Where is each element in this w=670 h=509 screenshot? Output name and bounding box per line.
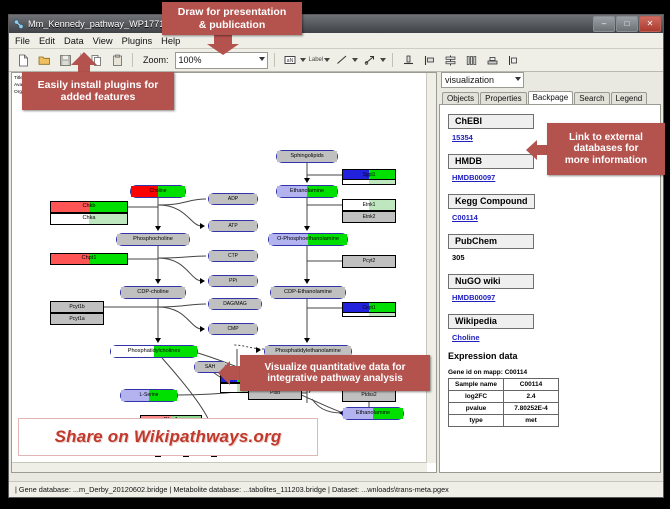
paste-icon[interactable] bbox=[108, 51, 126, 69]
table-cell-value: C00114 bbox=[504, 379, 559, 391]
node-fill-right bbox=[369, 180, 395, 184]
edge-arrowhead bbox=[155, 338, 161, 343]
chebi-header: ChEBI bbox=[448, 114, 534, 129]
node-label: SAH bbox=[205, 365, 215, 370]
window-controls: – □ ✕ bbox=[593, 16, 661, 32]
svg-text:aN: aN bbox=[286, 58, 293, 64]
table-cell-key: type bbox=[449, 415, 504, 427]
node-label: L-Serine bbox=[140, 393, 159, 398]
metabolite-node-choline-top[interactable]: Choline bbox=[130, 185, 186, 198]
align-middle-icon[interactable] bbox=[441, 51, 459, 69]
callout-draw-text: Draw for presentation & publication bbox=[178, 6, 287, 30]
edge-arrowhead bbox=[200, 326, 205, 332]
metabolite-node-phosphatidylcholines[interactable]: Phosphatidylcholines bbox=[110, 345, 198, 358]
node-fill-right bbox=[369, 313, 395, 316]
edge-arrowhead bbox=[256, 347, 261, 353]
chevron-down-icon bbox=[352, 58, 358, 62]
chevron-down-icon bbox=[515, 77, 521, 81]
interaction-tool[interactable] bbox=[361, 51, 386, 69]
edge-arrowhead bbox=[304, 226, 310, 231]
tab-legend[interactable]: Legend bbox=[611, 92, 648, 104]
canvas-horizontal-scrollbar[interactable] bbox=[12, 462, 427, 472]
pathvisio-icon bbox=[13, 19, 24, 30]
pubchem-value: 305 bbox=[452, 253, 652, 262]
edge-cmp-out bbox=[158, 307, 202, 329]
edge-adp-in bbox=[158, 199, 206, 205]
status-bar: | Gene database: ...m_Derby_20120602.bri… bbox=[9, 481, 663, 497]
node-label: Cept1 bbox=[362, 306, 375, 311]
distribute-icon[interactable] bbox=[462, 51, 480, 69]
gene-node-pcyt1b[interactable]: Pcyt1b bbox=[50, 301, 104, 313]
close-button[interactable]: ✕ bbox=[639, 16, 661, 32]
menu-bar: File Edit Data View Plugins Help bbox=[9, 33, 663, 49]
align-left-icon[interactable] bbox=[420, 51, 438, 69]
node-label: ATP bbox=[228, 224, 237, 229]
node-label: Etnk2 bbox=[363, 215, 376, 220]
tab-objects[interactable]: Objects bbox=[442, 92, 479, 104]
node-label: Pcyt1b bbox=[69, 305, 84, 310]
metabolite-node-adp[interactable]: ADP bbox=[208, 193, 258, 205]
toolbar: Zoom: 100% aN Label bbox=[9, 49, 663, 72]
gene-node-sgpl1b[interactable] bbox=[342, 179, 396, 185]
node-label: ADP bbox=[228, 197, 238, 202]
edge-arrowhead bbox=[200, 223, 205, 229]
visualization-value: visualization bbox=[445, 75, 494, 85]
node-label: Etnk1 bbox=[363, 203, 376, 208]
nugo-wiki-link[interactable]: HMDB00097 bbox=[452, 293, 652, 302]
node-label: Ethanolamine bbox=[356, 411, 390, 417]
table-cell-value: 7.80252E-4 bbox=[504, 403, 559, 415]
data-node-icon: aN bbox=[281, 51, 299, 69]
node-label: CMP bbox=[227, 327, 238, 332]
pubchem-header: PubChem bbox=[448, 234, 534, 249]
table-cell-value: met bbox=[504, 415, 559, 427]
tab-properties[interactable]: Properties bbox=[480, 92, 526, 104]
metabolite-node-o-phosphoethanolamine[interactable]: O-Phosphoethanolamine bbox=[268, 233, 348, 246]
callout-visualize-arrow-icon bbox=[218, 360, 242, 386]
node-label: CDP-Ethanolamine bbox=[284, 290, 332, 296]
edge-ppi-out bbox=[158, 258, 202, 281]
callout-install-plugins: Easily install plugins for added feature… bbox=[22, 72, 174, 110]
label-tool-text: Label bbox=[309, 57, 324, 63]
node-label: O-Phosphoethanolamine bbox=[277, 237, 339, 243]
chevron-down-icon bbox=[300, 58, 306, 62]
gene-node-etnk1[interactable]: Etnk1 bbox=[342, 199, 396, 211]
screenshot-root: Mm_Kennedy_pathway_WP1771_45176.gpml – □… bbox=[0, 0, 670, 509]
edge-arrowhead bbox=[304, 178, 310, 183]
node-label: Pisd bbox=[270, 391, 280, 396]
metabolite-node-cdp-ethanolamine[interactable]: CDP-Ethanolamine bbox=[270, 286, 346, 299]
metabolite-node-ethanolamine-top[interactable]: Ethanolamine bbox=[276, 185, 338, 198]
node-label: Choline bbox=[150, 189, 167, 194]
chevron-down-icon bbox=[324, 58, 330, 62]
node-label: Phosphatidylcholines bbox=[128, 349, 181, 355]
gene-node-chkb[interactable]: Chkb bbox=[50, 201, 128, 213]
gene-node-cept1b[interactable] bbox=[342, 312, 396, 317]
side-panel-tabs: Objects Properties Backpage Search Legen… bbox=[439, 90, 661, 104]
table-cell-value: 2.4 bbox=[504, 391, 559, 403]
edge-arrowhead bbox=[155, 226, 161, 231]
share-text: Share on Wikipathways.org bbox=[55, 427, 282, 447]
edge-pemt-dashed bbox=[234, 345, 264, 349]
label-tool[interactable]: Label bbox=[309, 57, 331, 63]
zoom-value: 100% bbox=[179, 55, 202, 65]
minimize-button[interactable]: – bbox=[593, 16, 615, 32]
node-label: Chka bbox=[82, 216, 95, 222]
toolbar-separator bbox=[274, 53, 275, 67]
align-bottom-icon[interactable] bbox=[399, 51, 417, 69]
edge-ctp-in bbox=[158, 256, 206, 258]
wikipedia-link[interactable]: Choline bbox=[452, 333, 652, 342]
menu-item-view[interactable]: View bbox=[93, 36, 113, 46]
open-folder-icon[interactable] bbox=[35, 51, 53, 69]
callout-draw-arrow-icon bbox=[206, 34, 240, 56]
interaction-icon bbox=[361, 51, 379, 69]
metabolite-node-cdp-choline[interactable]: CDP-choline bbox=[120, 286, 186, 299]
node-label: Phosphocholine bbox=[133, 237, 173, 243]
kegg-compound-header: Kegg Compound bbox=[448, 194, 535, 209]
node-label: Phosphatidylethanolamine bbox=[275, 349, 341, 355]
metabolite-node-l-serine-left[interactable]: L-Serine bbox=[120, 389, 178, 402]
edge-arrowhead bbox=[304, 279, 310, 284]
gene-node-chka[interactable]: Chka bbox=[50, 213, 128, 225]
zoom-label: Zoom: bbox=[143, 55, 169, 65]
maximize-button[interactable]: □ bbox=[616, 16, 638, 32]
edge-arrowhead bbox=[304, 338, 310, 343]
table-row: typemet bbox=[449, 415, 559, 427]
chevron-down-icon bbox=[380, 58, 386, 62]
node-label: Ptdss2 bbox=[361, 393, 376, 398]
pathway-canvas[interactable]: Title: Availab Organis SphingolipidsEtha… bbox=[11, 72, 437, 473]
wikipedia-header: Wikipedia bbox=[448, 314, 534, 329]
metabolite-node-ethanolamine-bottom[interactable]: Ethanolamine bbox=[342, 407, 404, 420]
edge-arrowhead bbox=[155, 279, 161, 284]
menu-item-plugins[interactable]: Plugins bbox=[122, 36, 153, 46]
visualization-combo[interactable]: visualization bbox=[441, 72, 524, 88]
menu-item-file[interactable]: File bbox=[15, 36, 30, 46]
table-cell-key: log2FC bbox=[449, 391, 504, 403]
edge-arrowhead bbox=[200, 278, 205, 284]
node-label: Chkb bbox=[82, 204, 95, 210]
node-label: Ethanolamine bbox=[290, 189, 324, 195]
node-label: Sphingolipids bbox=[290, 154, 323, 160]
node-label: CDP-choline bbox=[137, 290, 168, 296]
table-row: pvalue7.80252E-4 bbox=[449, 403, 559, 415]
node-fill-left bbox=[343, 313, 369, 316]
table-row: log2FC2.4 bbox=[449, 391, 559, 403]
node-fill-left bbox=[343, 180, 369, 184]
toolbar-separator bbox=[392, 53, 393, 67]
metabolite-node-ctp[interactable]: CTP bbox=[208, 250, 258, 262]
edge-atp-out bbox=[158, 205, 202, 226]
tab-search[interactable]: Search bbox=[574, 92, 609, 104]
edge-ethanolamine-out bbox=[312, 399, 342, 413]
callout-links-text: Link to external databases for more info… bbox=[565, 132, 647, 167]
title-bar: Mm_Kennedy_pathway_WP1771_45176.gpml – □… bbox=[9, 15, 663, 33]
callout-draw-for-publication: Draw for presentation & publication bbox=[162, 2, 302, 35]
node-label: PPi bbox=[229, 279, 237, 284]
tab-backpage[interactable]: Backpage bbox=[528, 91, 574, 104]
canvas-vertical-scrollbar[interactable] bbox=[426, 73, 436, 463]
gene-node-chpt1[interactable]: Chpt1 bbox=[50, 253, 128, 265]
node-label: Sgpl1 bbox=[363, 173, 376, 178]
callout-share-wikipathways: Share on Wikipathways.org bbox=[18, 418, 318, 456]
data-node-tool[interactable]: aN bbox=[281, 51, 306, 69]
metabolite-node-cmp[interactable]: CMP bbox=[208, 323, 258, 335]
callout-visualize-data: Visualize quantitative data for integrat… bbox=[240, 355, 430, 391]
node-label: Chpt1 bbox=[82, 256, 97, 262]
table-row: Sample nameC00114 bbox=[449, 379, 559, 391]
toolbar-separator bbox=[132, 53, 133, 67]
node-label: CTP bbox=[228, 254, 238, 259]
status-text: | Gene database: ...m_Derby_20120602.bri… bbox=[15, 485, 449, 494]
expression-table: Sample nameC00114log2FC2.4pvalue7.80252E… bbox=[448, 378, 559, 427]
callout-visualize-text: Visualize quantitative data for integrat… bbox=[265, 362, 406, 385]
gene-node-pcyt2[interactable]: Pcyt2 bbox=[342, 255, 396, 268]
table-cell-key: pvalue bbox=[449, 403, 504, 415]
line-tool[interactable] bbox=[333, 51, 358, 69]
gene-node-etnk2[interactable]: Etnk2 bbox=[342, 211, 396, 223]
callout-plugins-text: Easily install plugins for added feature… bbox=[38, 79, 159, 103]
new-file-icon[interactable] bbox=[14, 51, 32, 69]
metabolite-node-atp[interactable]: ATP bbox=[208, 220, 258, 232]
nugo-wiki-header: NuGO wiki bbox=[448, 274, 534, 289]
ungroup-icon[interactable] bbox=[504, 51, 522, 69]
callout-external-links: Link to external databases for more info… bbox=[547, 123, 665, 175]
node-label: Pcyt2 bbox=[363, 259, 376, 264]
node-label: Pcyt1a bbox=[69, 317, 84, 322]
line-icon bbox=[333, 51, 351, 69]
metabolite-node-sphingolipids[interactable]: Sphingolipids bbox=[276, 150, 338, 163]
menu-item-help[interactable]: Help bbox=[161, 36, 180, 46]
metabolite-node-phosphocholine[interactable]: Phosphocholine bbox=[116, 233, 190, 246]
kegg-compound-link[interactable]: C00114 bbox=[452, 213, 652, 222]
metabolite-node-dag-mag[interactable]: DAG/MAG bbox=[208, 298, 262, 310]
expression-data-header: Expression data bbox=[448, 351, 652, 361]
node-label: DAG/MAG bbox=[223, 302, 247, 307]
gene-node-pcyt1a[interactable]: Pcyt1a bbox=[50, 313, 104, 325]
menu-item-data[interactable]: Data bbox=[64, 36, 84, 46]
hmdb-header: HMDB bbox=[448, 154, 534, 169]
gene-id-label: Gene id on mapp: C00114 bbox=[448, 369, 652, 376]
edge-dag-in bbox=[158, 304, 206, 307]
group-icon[interactable] bbox=[483, 51, 501, 69]
chevron-down-icon bbox=[259, 57, 265, 61]
menu-item-edit[interactable]: Edit bbox=[39, 36, 55, 46]
table-cell-key: Sample name bbox=[449, 379, 504, 391]
metabolite-node-ppi[interactable]: PPi bbox=[208, 275, 258, 287]
